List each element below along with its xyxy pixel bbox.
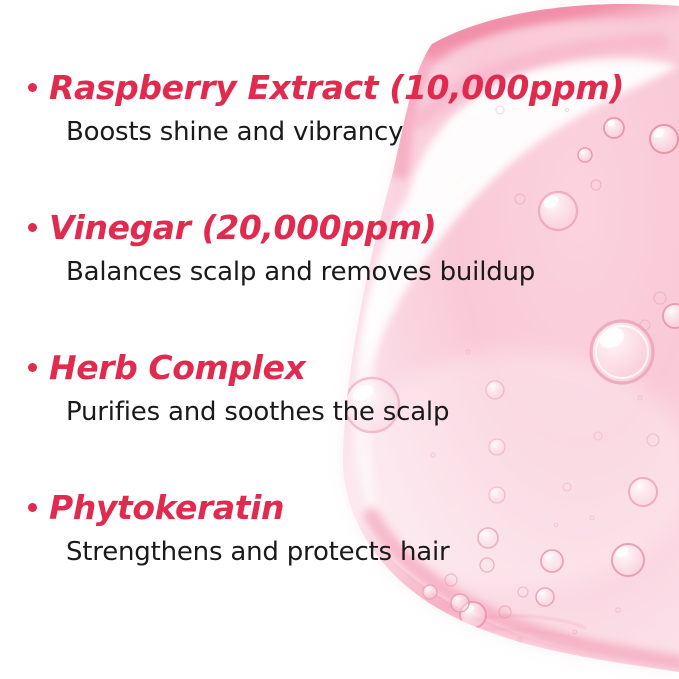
infographic-canvas: Raspberry Extract (10,000ppm) Boosts shi…	[0, 0, 679, 679]
ingredient-item: Phytokeratin Strengthens and protects ha…	[28, 488, 648, 569]
bullet-dot-icon	[28, 223, 37, 232]
ingredient-heading-row: Herb Complex	[28, 348, 648, 388]
ingredient-name: Vinegar (20,000ppm)	[49, 208, 436, 248]
ingredient-name: Phytokeratin	[49, 488, 284, 528]
ingredient-list: Raspberry Extract (10,000ppm) Boosts shi…	[0, 0, 679, 679]
ingredient-description: Balances scalp and removes buildup	[66, 255, 648, 289]
bullet-dot-icon	[28, 83, 37, 92]
ingredient-item: Vinegar (20,000ppm) Balances scalp and r…	[28, 208, 648, 289]
ingredient-item: Herb Complex Purifies and soothes the sc…	[28, 348, 648, 429]
bullet-dot-icon	[28, 363, 37, 372]
ingredient-description: Strengthens and protects hair	[66, 535, 648, 569]
ingredient-heading-row: Vinegar (20,000ppm)	[28, 208, 648, 248]
ingredient-name: Raspberry Extract (10,000ppm)	[49, 68, 624, 108]
bullet-dot-icon	[28, 503, 37, 512]
ingredient-description: Purifies and soothes the scalp	[66, 395, 648, 429]
ingredient-heading-row: Phytokeratin	[28, 488, 648, 528]
ingredient-item: Raspberry Extract (10,000ppm) Boosts shi…	[28, 68, 648, 149]
ingredient-name: Herb Complex	[49, 348, 305, 388]
ingredient-heading-row: Raspberry Extract (10,000ppm)	[28, 68, 648, 108]
ingredient-description: Boosts shine and vibrancy	[66, 115, 648, 149]
